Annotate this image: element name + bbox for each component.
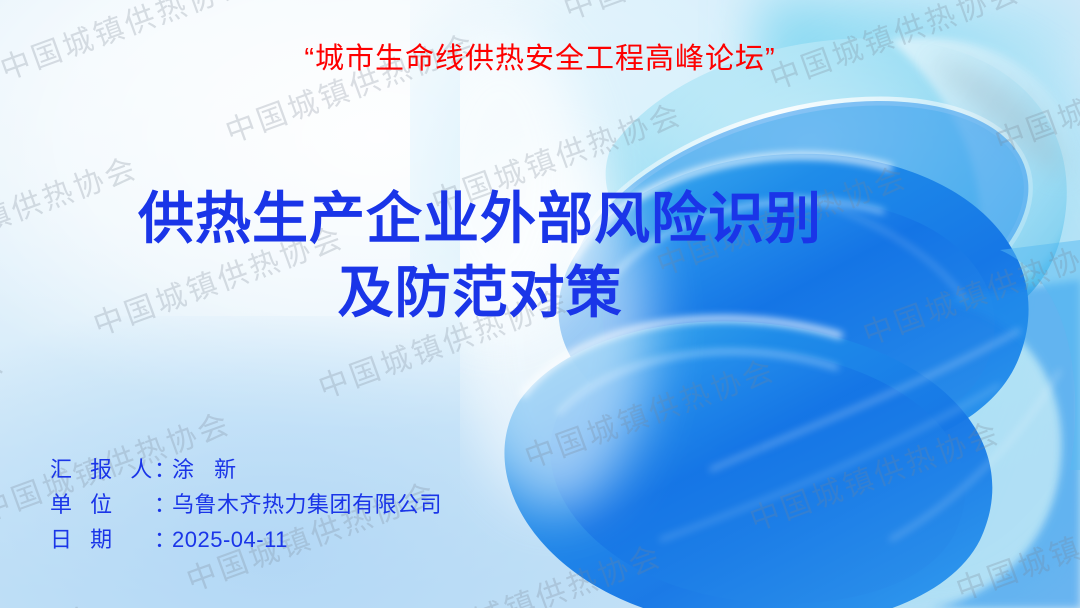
date-row: 日 期 ： 2025-04-11 (50, 522, 442, 557)
event-title: “城市生命线供热安全工程高峰论坛” (0, 43, 1080, 76)
organization-row: 单 位 ： 乌鲁木齐热力集团有限公司 (50, 487, 442, 522)
presenter-label: 汇 报 人 (50, 452, 154, 487)
slide-content: “城市生命线供热安全工程高峰论坛” 供热生产企业外部风险识别 及防范对策 汇 报… (0, 0, 1080, 608)
organization-label: 单 位 (50, 487, 154, 522)
presenter-colon: ： (154, 452, 172, 487)
date-value: 2025-04-11 (172, 522, 288, 557)
date-label: 日 期 (50, 522, 154, 557)
main-title-line-1: 供热生产企业外部风险识别 (0, 182, 960, 256)
presenter-info-block: 汇 报 人 ： 涂 新 单 位 ： 乌鲁木齐热力集团有限公司 日 期 ： 202… (50, 452, 442, 557)
presentation-slide: 中国城镇供热协会 中国城镇供热协会 中国城镇供热协会 中国城镇供热协会 中国城镇… (0, 0, 1080, 608)
main-title: 供热生产企业外部风险识别 及防范对策 (0, 182, 960, 330)
date-colon: ： (154, 522, 172, 557)
presenter-value: 涂 新 (172, 452, 243, 487)
organization-colon: ： (154, 487, 172, 522)
organization-value: 乌鲁木齐热力集团有限公司 (172, 487, 442, 522)
main-title-line-2: 及防范对策 (0, 256, 960, 330)
presenter-row: 汇 报 人 ： 涂 新 (50, 452, 442, 487)
